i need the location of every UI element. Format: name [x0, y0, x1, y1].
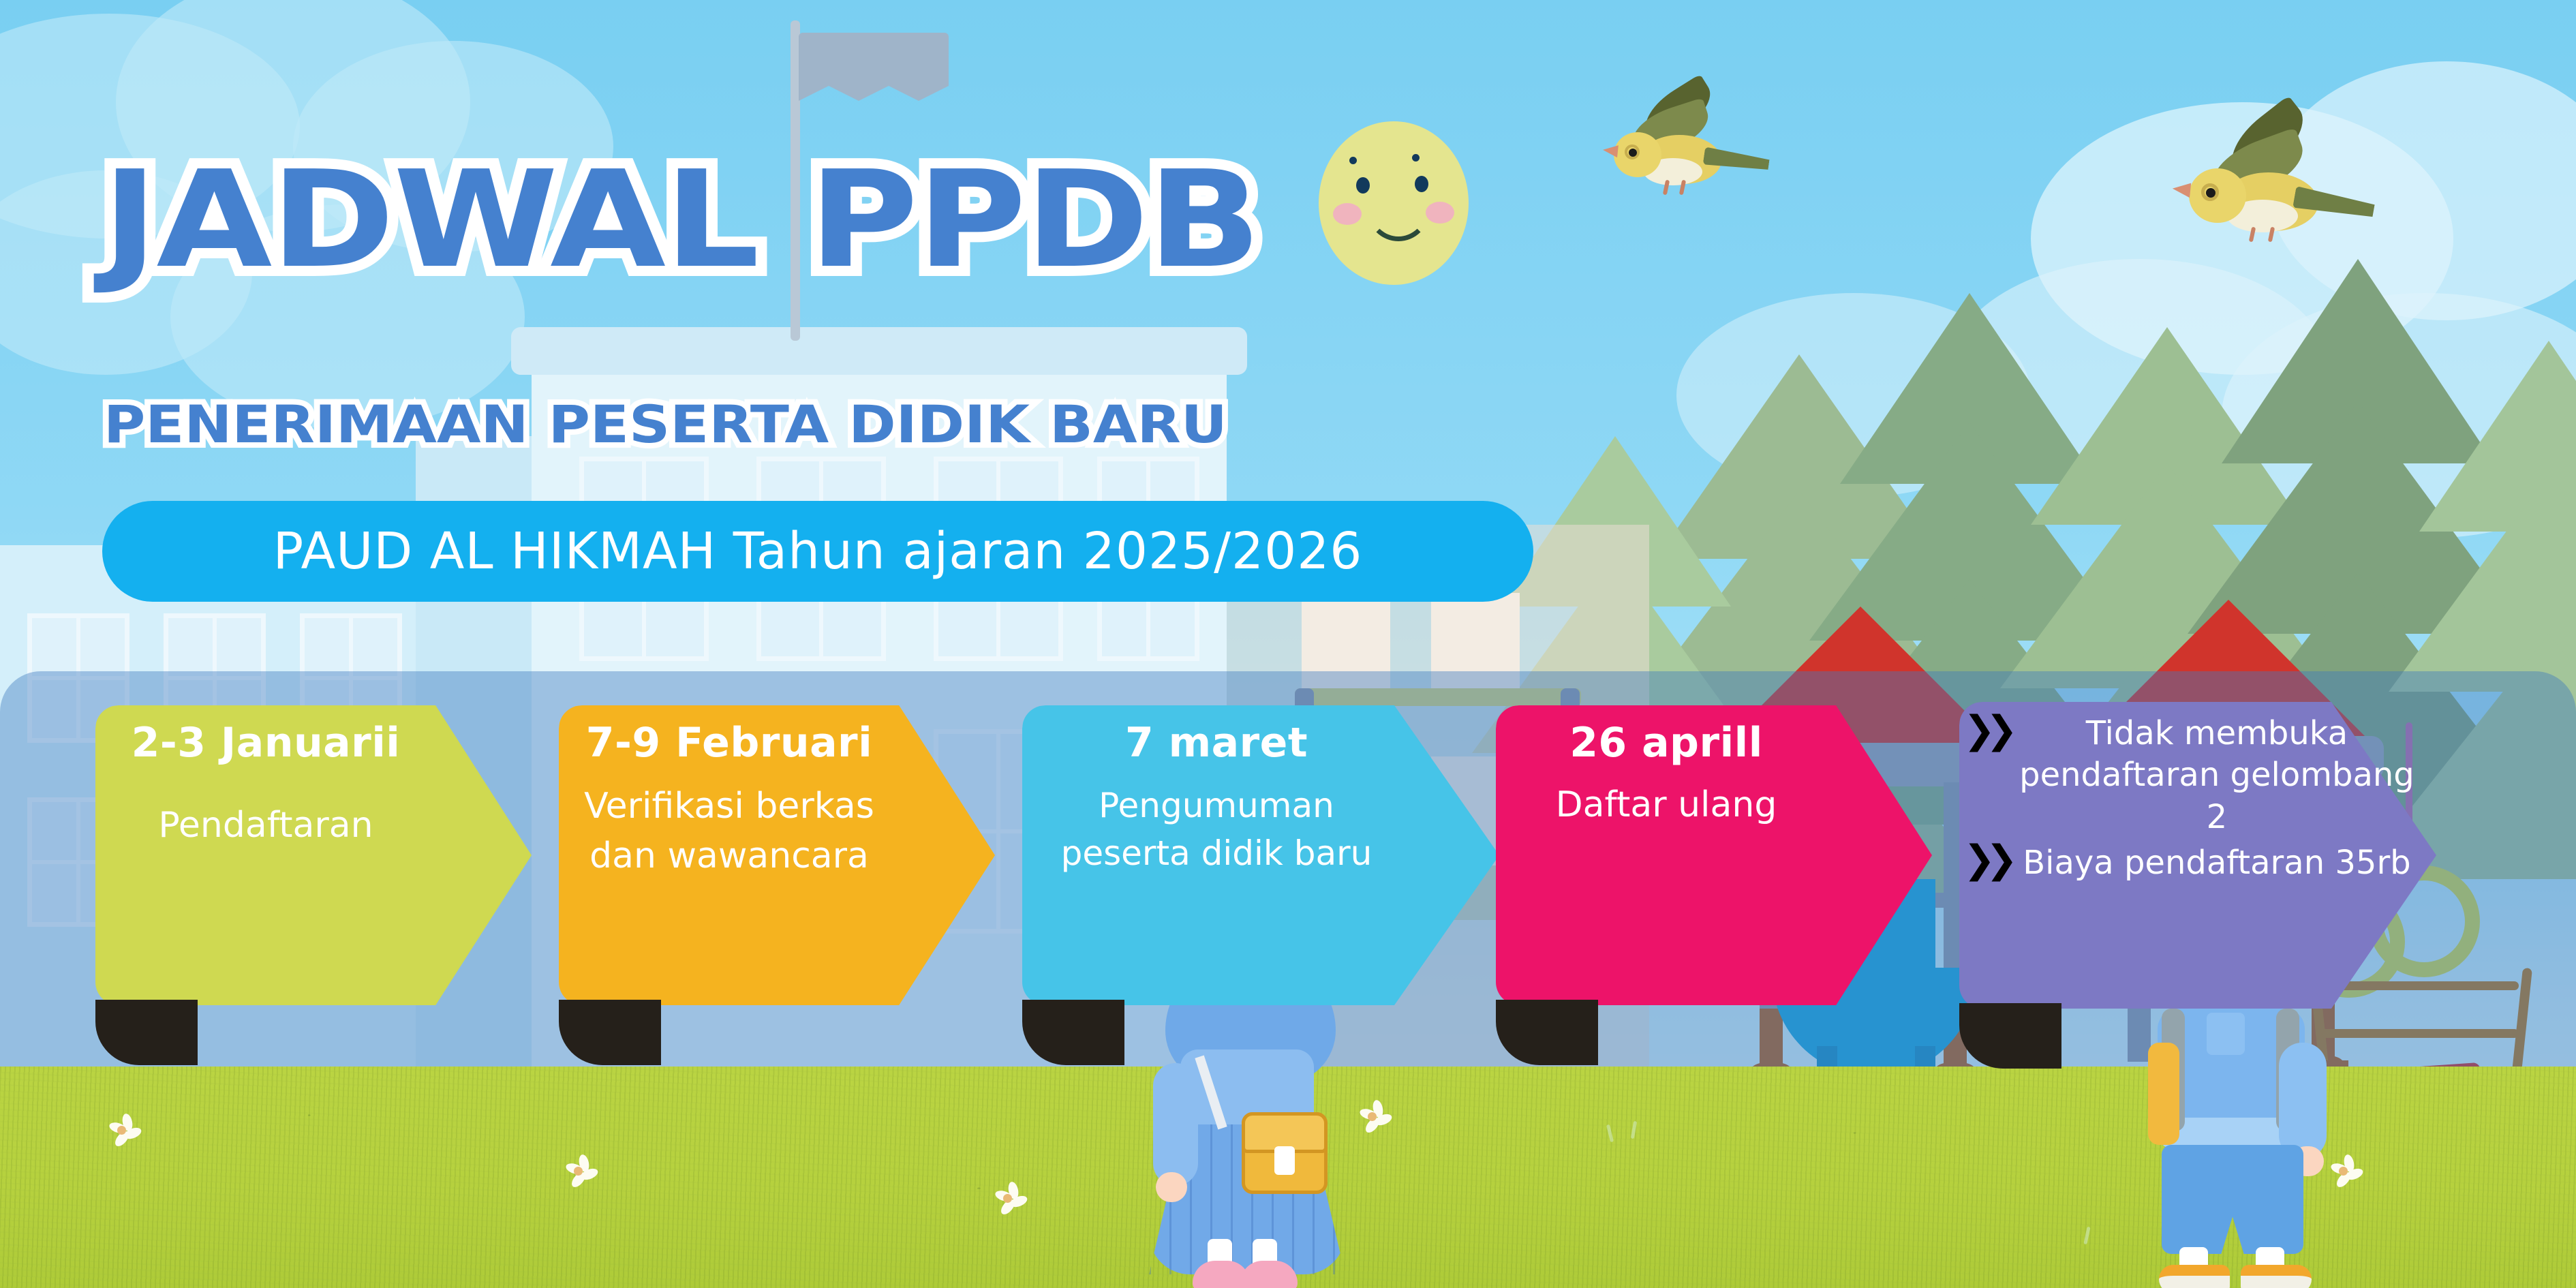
girl-sleeve — [1153, 1063, 1198, 1186]
sun-cheek — [1426, 202, 1454, 224]
girl-student — [1104, 968, 1390, 1288]
step-date: 2-3 Januarii — [132, 720, 401, 765]
timeline-step-2[interactable]: 7-9 Februari Verifikasi berkas dan wawan… — [559, 705, 995, 1005]
step-description-line2: dan wawancara — [589, 833, 869, 880]
boy-collar — [2207, 1013, 2245, 1055]
bird-icon — [1601, 102, 1772, 211]
ppdb-schedule-poster: JADWAL PPDB PENERIMAAN PESERTA DIDIK BAR… — [0, 0, 2576, 1288]
page-subtitle: PENERIMAAN PESERTA DIDIK BARU — [104, 399, 1227, 450]
sun-icon — [1281, 89, 1506, 313]
step-date: 7-9 Februari — [586, 720, 872, 765]
bullet-item: ❯❯ Tidak membuka pendaftaran gelombang 2 — [1959, 713, 2436, 838]
step-description-line2: peserta didik baru — [1061, 831, 1373, 876]
step-description-line1: Verifikasi berkas — [584, 783, 874, 830]
timeline-step-5[interactable]: ❯❯ Tidak membuka pendaftaran gelombang 2… — [1959, 702, 2436, 1009]
boy-backpack — [2148, 1043, 2179, 1145]
boy-shoe — [2241, 1265, 2312, 1288]
school-year-label: PAUD AL HIKMAH Tahun ajaran 2025/2026 — [273, 522, 1363, 581]
step-date: 26 aprill — [1569, 720, 1763, 765]
bird-icon — [2174, 133, 2378, 269]
girl-hand — [1156, 1172, 1187, 1202]
chevron-right-icon: ❯❯ — [1963, 710, 2008, 750]
school-year-pill: PAUD AL HIKMAH Tahun ajaran 2025/2026 — [102, 501, 1533, 602]
sun-eye-icon — [1356, 177, 1370, 194]
step-description: Pendaftaran — [158, 802, 373, 849]
satchel-buckle — [1274, 1146, 1295, 1175]
chevron-right-icon: ❯❯ — [1963, 840, 2008, 880]
step-description-line1: Pengumuman — [1099, 783, 1334, 828]
boy-shoe — [2159, 1265, 2230, 1288]
step-description: Daftar ulang — [1556, 782, 1777, 829]
girl-shoe — [1240, 1261, 1298, 1288]
bullet-text: Tidak membuka pendaftaran gelombang 2 — [2015, 713, 2436, 838]
boy-sleeve — [2279, 1043, 2327, 1159]
page-title: JADWAL PPDB — [102, 153, 1260, 287]
bullet-item: ❯❯ Biaya pendaftaran 35rb — [1959, 842, 2436, 884]
step-date: 7 maret — [1125, 720, 1308, 765]
sun-freckle — [1412, 154, 1420, 162]
sun-freckle — [1349, 157, 1357, 164]
bullet-text: Biaya pendaftaran 35rb — [2015, 842, 2436, 884]
timeline-step-3[interactable]: 7 maret Pengumuman peserta didik baru — [1022, 705, 1499, 1005]
boy-shorts — [2162, 1145, 2303, 1254]
flag — [799, 33, 949, 101]
sun-cheek — [1333, 203, 1362, 225]
building-roof — [511, 327, 1247, 375]
timeline-step-4[interactable]: 26 aprill Daftar ulang — [1496, 705, 1932, 1005]
timeline-step-1[interactable]: 2-3 Januarii Pendaftaran — [95, 705, 532, 1005]
sun-eye-icon — [1415, 176, 1428, 192]
